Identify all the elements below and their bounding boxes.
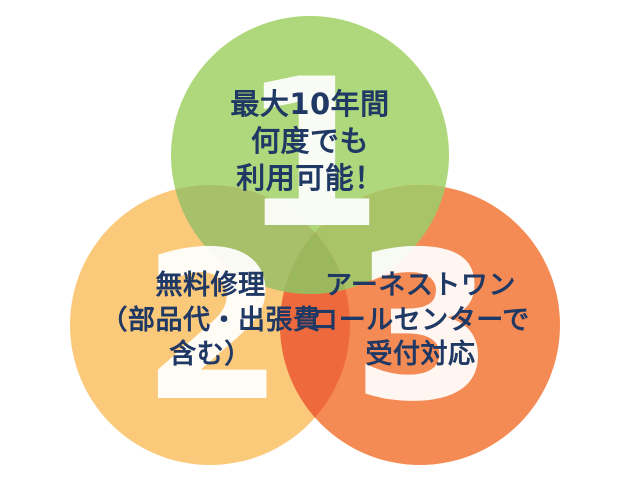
venn-diagram-figure: 1 2 3 最大10年間 何度でも 利用可能！ 無料修理 （部品代・出張費 含む…	[0, 0, 620, 495]
watermark-number-2: 2	[142, 209, 285, 447]
watermark-number-3: 3	[352, 209, 495, 447]
venn-circles-graphic: 1 2 3	[0, 0, 620, 495]
